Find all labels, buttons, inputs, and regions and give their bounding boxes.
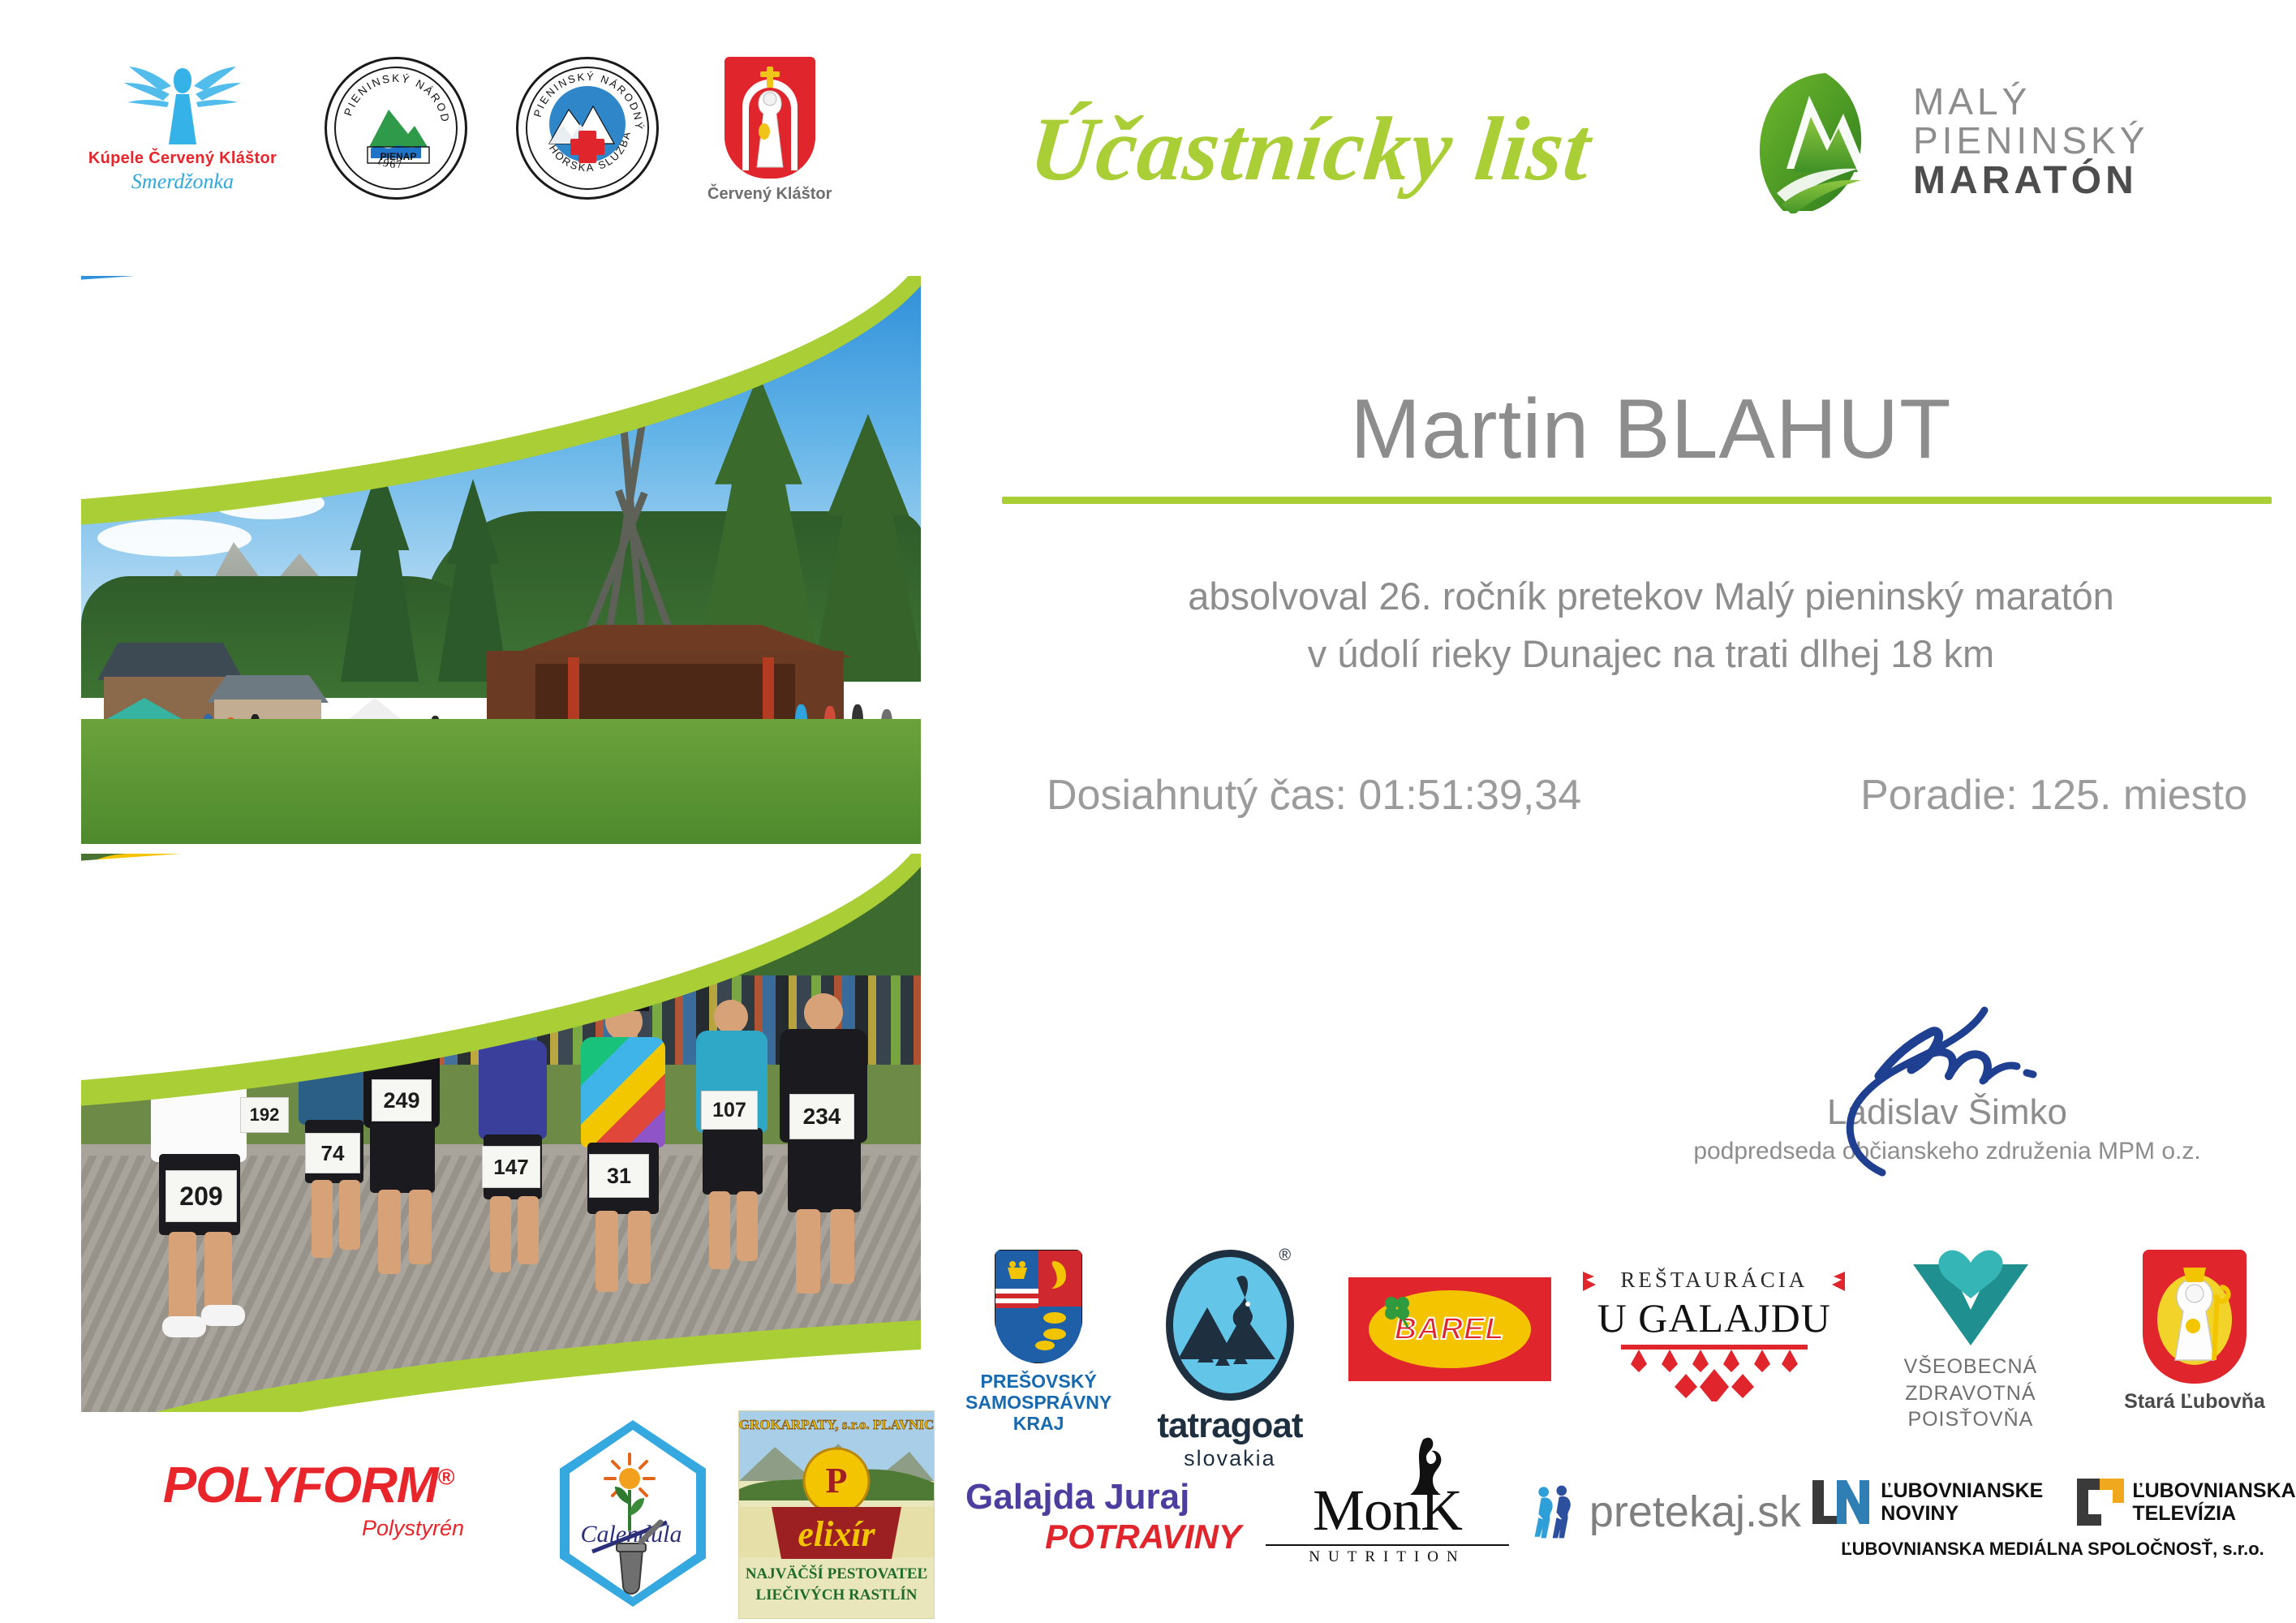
bib-number: 107	[701, 1091, 758, 1130]
presov-cap-3: KRAJ	[965, 1414, 1111, 1435]
runner-234: 234	[767, 993, 880, 1310]
accent-divider	[1002, 497, 2272, 504]
vzp-cap-2: ZDRAVOTNÁ	[1904, 1380, 2038, 1407]
signature-block: Ladislav Šimko podpredseda občianskeho z…	[1639, 1006, 2255, 1165]
stara-lubovna-caption: Stará Ľubovňa	[2124, 1390, 2265, 1414]
partner-logo-horska-sluzba: PIENINSKÝ NÁRODNÝ PARK HORSKÁ SLUŽBA	[516, 57, 659, 200]
event-logo-line3: MARATÓN	[1913, 161, 2148, 201]
photo-runners: MALÝ PIENINSKÝ MARATÓN 209	[81, 854, 921, 1412]
stara-lubovna-crest-icon	[2143, 1250, 2247, 1384]
event-logo-line2: PIENINSKÝ	[1913, 122, 2148, 161]
polyform-wordmark: POLYFORM®	[138, 1457, 479, 1514]
registered-icon: ®	[1279, 1246, 1291, 1265]
lubovnianska-televizia: ĽUBOVNIANSKA TELEVÍZIA	[2075, 1477, 2295, 1527]
galajdu-cap-1: REŠTAURÁCIA	[1620, 1268, 1808, 1293]
sponsors-row-1: PREŠOVSKÝ SAMOSPRÁVNY KRAJ ® tatragoat s…	[965, 1250, 2280, 1471]
sponsor-u-galajdu: REŠTAURÁCIA U GALAJDU	[1597, 1250, 1832, 1401]
svg-text:NAJVÄČŠÍ PESTOVATEĽ: NAJVÄČŠÍ PESTOVATEĽ	[746, 1565, 927, 1582]
runner-31: 31	[568, 1003, 681, 1319]
partner-subtitle-kupele: Smerdžonka	[131, 170, 234, 194]
event-logo: MALÝ PIENINSKÝ MARATÓN	[1752, 69, 2272, 215]
svg-text:1967: 1967	[374, 154, 404, 171]
bib-number: 31	[589, 1154, 649, 1198]
vzp-icon	[1902, 1250, 2040, 1347]
svg-text:HORSKÁ SLUŽBA: HORSKÁ SLUŽBA	[547, 130, 633, 174]
sponsor-tatragoat: ® tatragoat slovakia	[1157, 1250, 1302, 1471]
tatragoat-wordmark: tatragoat	[1157, 1406, 1302, 1446]
lt-line-2: TELEVÍZIA	[2132, 1502, 2295, 1525]
runner-147: 147	[462, 1010, 560, 1302]
polyform-tagline: Polystyrén	[138, 1516, 479, 1541]
angel-water-icon	[101, 57, 264, 146]
body-line-1: absolvoval 26. ročník pretekov Malý pien…	[1030, 568, 2272, 626]
galajdu-cap-2: U GALAJDU	[1597, 1294, 1831, 1341]
photo-collage: MALÝ PIENINSKÝ MARATÓN 209	[81, 276, 921, 1412]
svg-text:PIENINSKÝ NÁRODNÝ PARK: PIENINSKÝ NÁRODNÝ PARK	[327, 59, 452, 124]
sponsor-stara-lubovna: Stará Ľubovňa	[2109, 1250, 2280, 1414]
sponsors-row-2: Galajda Juraj POTRAVINY MonK NUTRITION p…	[965, 1477, 2280, 1566]
sponsor-barel: BAREL	[1348, 1250, 1551, 1381]
galajda-line-2: POTRAVINY	[965, 1518, 1241, 1556]
partner-name-cerveny-klastor: Červený Kláštor	[707, 185, 832, 204]
svg-text:PIENINSKÝ NÁRODNÝ PARK: PIENINSKÝ NÁRODNÝ PARK	[518, 59, 645, 131]
top-partner-logos: Kúpele Červený Kláštor Smerdžonka PIENIN…	[89, 57, 949, 235]
sponsor-lubovnianska-medialna: ĽUBOVNIANSKE NOVINY ĽUBOVNIANSKA TELEVÍZ…	[1825, 1477, 2280, 1560]
presov-cap-1: PREŠOVSKÝ	[965, 1371, 1111, 1393]
ln-line-2: NOVINY	[1881, 1502, 2043, 1525]
sponsors-left: POLYFORM® Polystyrén Calendula	[97, 1371, 941, 1615]
sponsor-pretekaj-sk: pretekaj.sk	[1533, 1477, 1801, 1547]
bib-number: 234	[789, 1094, 854, 1139]
finish-time: Dosiahnutý čas: 01:51:39,34	[1030, 771, 1581, 820]
lt-line-1: ĽUBOVNIANSKA	[2132, 1479, 2295, 1502]
sponsor-calendula: Calendula	[560, 1420, 706, 1607]
result-row: Dosiahnutý čas: 01:51:39,34 Poradie: 125…	[1030, 771, 2272, 820]
ln-line-1: ĽUBOVNIANSKE	[1881, 1479, 2043, 1502]
monk-sub: NUTRITION	[1266, 1544, 1509, 1566]
sponsor-galajda-juraj: Galajda Juraj POTRAVINY	[965, 1477, 1241, 1556]
lubovnianske-noviny: ĽUBOVNIANSKE NOVINY	[1809, 1477, 2043, 1527]
lt-icon	[2075, 1477, 2126, 1527]
svg-text:LIEČIVÝCH RASTLÍN: LIEČIVÝCH RASTLÍN	[755, 1586, 917, 1604]
tatragoat-sub: slovakia	[1184, 1446, 1276, 1471]
svg-text:AGROKARPATY, s.r.o. PLAVNICA: AGROKARPATY, s.r.o. PLAVNICA	[739, 1417, 934, 1432]
folk-ornament-icon	[1597, 1345, 1832, 1401]
partner-name-kupele: Kúpele Červený Kláštor	[88, 149, 277, 168]
registered-icon: ®	[438, 1464, 454, 1489]
town-crest-icon	[724, 57, 815, 179]
recipient-name: Martin BLAHUT	[1030, 381, 2272, 478]
presov-region-crest-icon	[995, 1250, 1082, 1363]
placement: Poradie: 125. miesto	[1860, 771, 2272, 820]
photo-amphitheatre	[81, 276, 921, 844]
sponsor-presovsky-kraj: PREŠOVSKÝ SAMOSPRÁVNY KRAJ	[965, 1250, 1111, 1434]
svg-text:PIENAP: PIENAP	[381, 151, 417, 162]
bib-number: 249	[372, 1079, 432, 1121]
bib-number: 147	[482, 1146, 540, 1188]
svg-text:P: P	[826, 1461, 848, 1500]
sponsor-agrokarpaty-elixir: AGROKARPATY, s.r.o. PLAVNICA P elixír NA…	[738, 1410, 935, 1619]
runner-107: 107	[681, 1000, 779, 1292]
sponsor-vzp: VŠEOBECNÁ ZDRAVOTNÁ POISŤOVŇA	[1877, 1250, 2064, 1433]
vzp-cap-3: POISŤOVŇA	[1904, 1406, 2038, 1433]
page-title: Účastnícky list	[1025, 97, 1766, 202]
ln-icon	[1809, 1477, 1874, 1527]
partner-logo-kupele: Kúpele Červený Kláštor Smerdžonka	[89, 57, 276, 194]
presov-cap-2: SAMOSPRÁVNY	[965, 1393, 1111, 1414]
signature-icon	[1639, 1006, 2255, 1104]
body-line-2: v údolí rieky Dunajec na trati dlhej 18 …	[1030, 626, 2272, 683]
bib-number: 192	[240, 1097, 289, 1133]
tatragoat-icon	[1166, 1250, 1294, 1401]
national-park-seal-icon: PIENINSKÝ NÁRODNÝ PARK 1967 PIENAP	[325, 57, 467, 200]
partner-logo-cerveny-klastor: Červený Kláštor	[707, 57, 832, 204]
sponsor-monk-nutrition: MonK NUTRITION	[1266, 1477, 1509, 1566]
runners-icon	[1533, 1477, 1580, 1547]
media-company-footer: ĽUBOVNIANSKA MEDIÁLNA SPOLOČNOSŤ, s.r.o.	[1825, 1539, 2280, 1560]
svg-text:elixír: elixír	[798, 1514, 875, 1554]
mountain-rescue-seal-icon: PIENINSKÝ NÁRODNÝ PARK HORSKÁ SLUŽBA	[516, 57, 659, 200]
barel-logo: BAREL	[1348, 1277, 1551, 1381]
pretekaj-wordmark: pretekaj.sk	[1589, 1487, 1801, 1537]
galajda-line-1: Galajda Juraj	[965, 1477, 1241, 1518]
certificate-body: absolvoval 26. ročník pretekov Malý pien…	[1030, 568, 2272, 682]
mpm-leaf-mountain-icon	[1752, 71, 1890, 213]
vzp-cap-1: VŠEOBECNÁ	[1904, 1354, 2038, 1380]
sponsor-polyform: POLYFORM® Polystyrén	[138, 1457, 479, 1541]
event-logo-line1: MALÝ	[1913, 83, 2148, 122]
partner-logo-pienap: PIENINSKÝ NÁRODNÝ PARK 1967 PIENAP	[325, 57, 467, 200]
bib-number: 209	[166, 1170, 237, 1222]
